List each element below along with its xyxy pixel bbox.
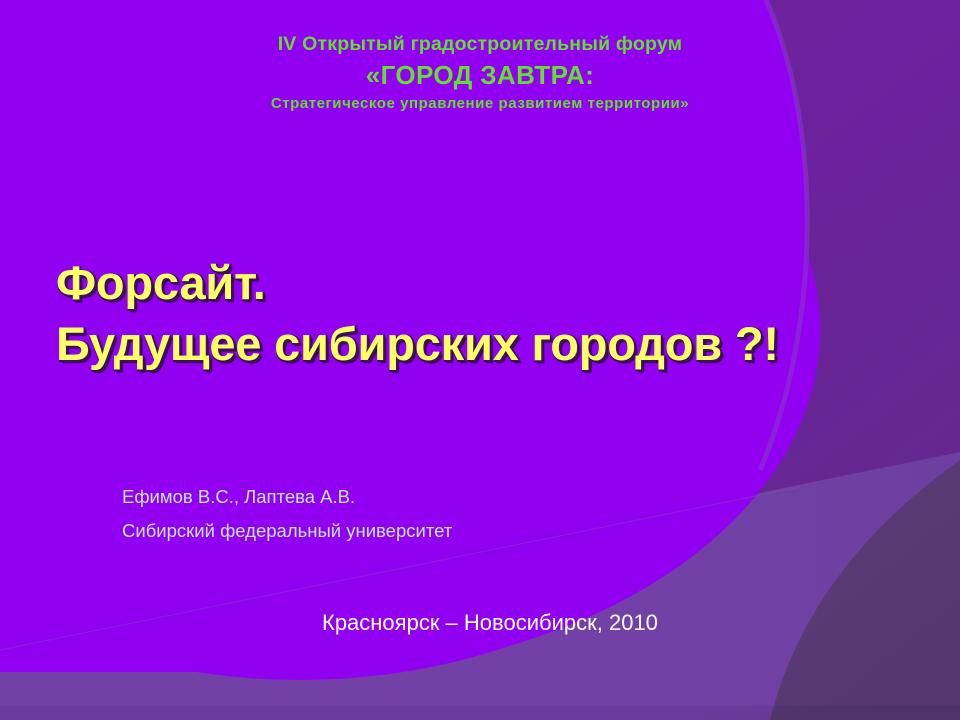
- authors-block: Ефимов В.С., Лаптева А.В. Сибирский феде…: [122, 488, 452, 540]
- forum-heading-block: IV Открытый градостроительный форум «ГОР…: [0, 34, 960, 113]
- presentation-slide: IV Открытый градостроительный форум «ГОР…: [0, 0, 960, 720]
- author-names: Ефимов В.С., Лаптева А.В.: [122, 488, 452, 507]
- slide-text-layer: IV Открытый градостроительный форум «ГОР…: [0, 0, 960, 720]
- forum-heading-line-2: «ГОРОД ЗАВТРА:: [0, 61, 960, 90]
- forum-heading-line-1: IV Открытый градостроительный форум: [0, 34, 960, 56]
- forum-heading-line-3: Стратегическое управление развитием терр…: [0, 96, 960, 113]
- main-title-line-2: Будущее сибирских городов ?!: [56, 313, 926, 374]
- page-title: Форсайт. Будущее сибирских городов ?!: [56, 252, 926, 374]
- author-affiliation: Сибирский федеральный университет: [122, 522, 452, 541]
- main-title-line-1: Форсайт.: [56, 252, 926, 313]
- venue-and-year: Красноярск – Новосибирск, 2010: [322, 610, 658, 636]
